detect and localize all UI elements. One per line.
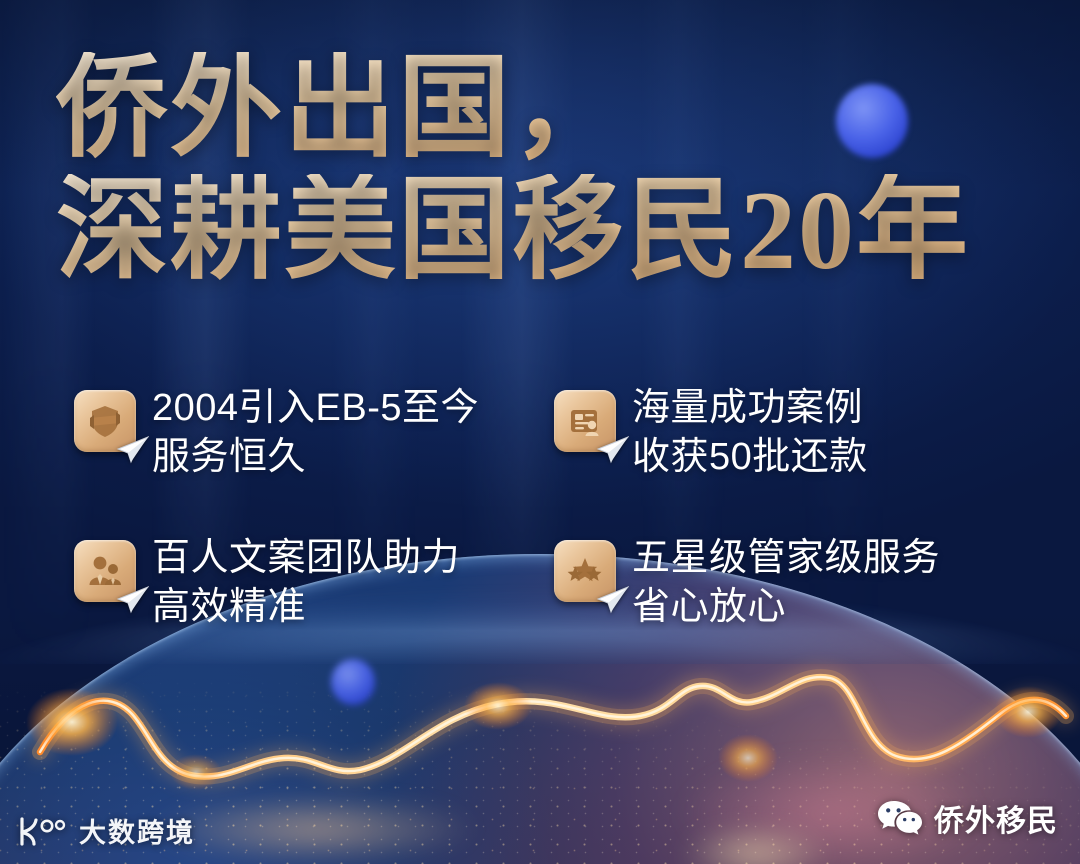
feature-text-3-line-1: 百人文案团队助力 [152, 534, 460, 583]
feature-text-1-line-1: 2004引入EB-5至今 [152, 384, 479, 433]
feature-icon-wrap-3 [74, 540, 136, 602]
paper-plane-cursor-icon [115, 584, 149, 614]
feature-text-4: 五星级管家级服务 省心放心 [632, 532, 940, 633]
headline-line-1: 侨外出国， [56, 52, 1016, 166]
wechat-icon [877, 799, 923, 837]
feature-item-2[interactable]: 海量成功案例 收获50批还款 [554, 382, 1024, 532]
feature-text-4-line-1: 五星级管家级服务 [632, 534, 940, 583]
feature-item-1[interactable]: 2004引入EB-5至今 服务恒久 [74, 382, 554, 532]
feature-icon-wrap-1 [74, 390, 136, 452]
feature-grid: 2004引入EB-5至今 服务恒久 [74, 382, 1024, 682]
poster-canvas: 侨外出国， 深耕美国移民20年 [0, 0, 1080, 864]
dashu-k-logo-icon [16, 814, 70, 848]
brand-watermark-label: 大数跨境 [79, 811, 195, 850]
feature-text-1: 2004引入EB-5至今 服务恒久 [152, 382, 479, 483]
feature-text-2-line-1: 海量成功案例 [632, 384, 868, 433]
feature-text-2-line-2: 收获50批还款 [632, 433, 868, 482]
headline: 侨外出国， 深耕美国移民20年 [56, 52, 1016, 288]
wechat-watermark-label: 侨外移民 [934, 796, 1058, 840]
feature-text-4-line-2: 省心放心 [632, 583, 940, 632]
feature-text-2: 海量成功案例 收获50批还款 [632, 382, 868, 483]
feature-text-3: 百人文案团队助力 高效精准 [152, 532, 460, 633]
brand-watermark: 大数跨境 [16, 811, 195, 850]
paper-plane-cursor-icon [115, 434, 149, 464]
feature-icon-wrap-4 [554, 540, 616, 602]
feature-text-3-line-2: 高效精准 [152, 583, 460, 632]
wechat-watermark: 侨外移民 [877, 796, 1058, 840]
feature-item-4[interactable]: 五星级管家级服务 省心放心 [554, 532, 1024, 682]
paper-plane-cursor-icon [595, 434, 629, 464]
paper-plane-cursor-icon [595, 584, 629, 614]
feature-icon-wrap-2 [554, 390, 616, 452]
feature-item-3[interactable]: 百人文案团队助力 高效精准 [74, 532, 554, 682]
headline-line-2: 深耕美国移民20年 [56, 174, 1016, 288]
feature-text-1-line-2: 服务恒久 [152, 433, 479, 482]
